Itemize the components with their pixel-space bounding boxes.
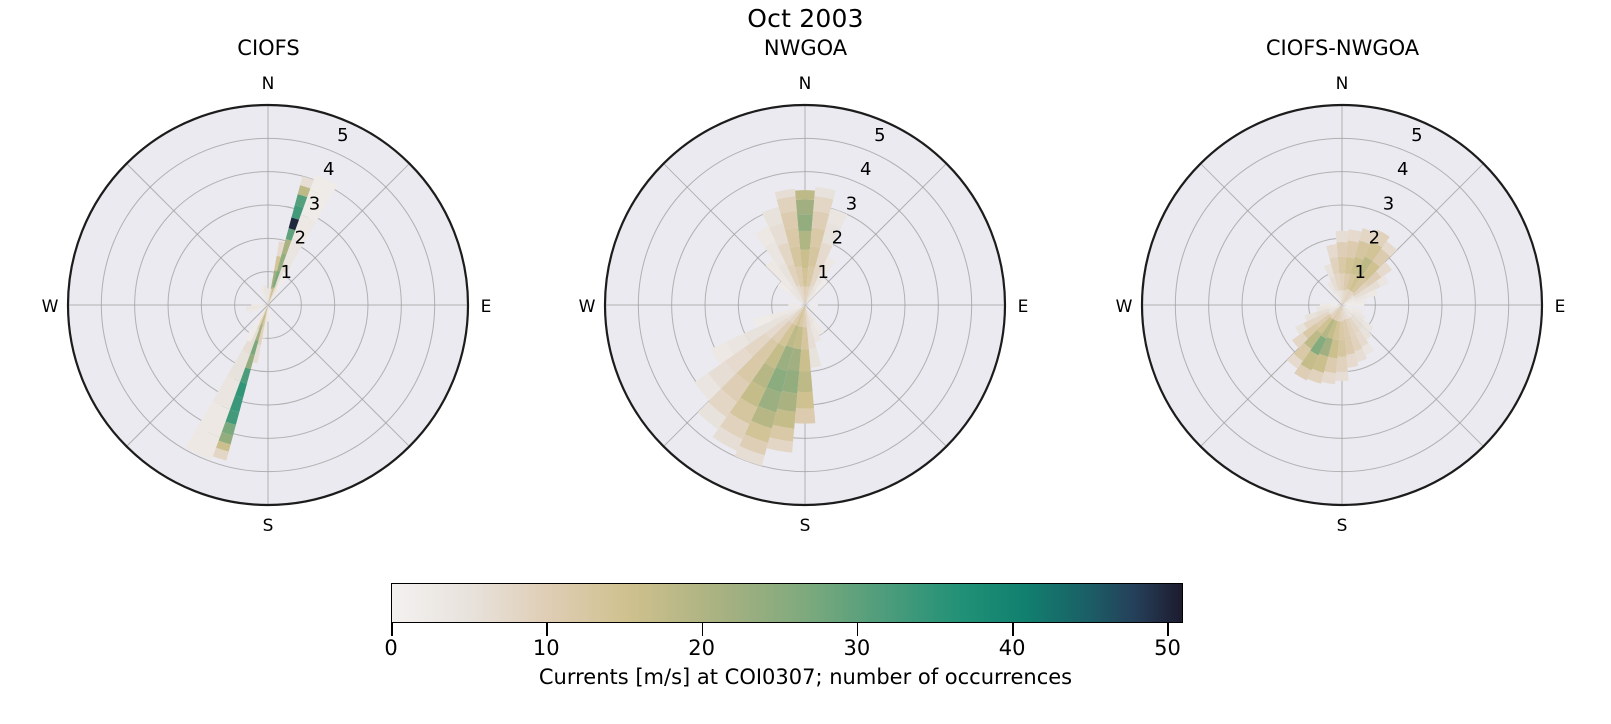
colorbar-gradient	[391, 583, 1183, 623]
compass-label-e: E	[1555, 297, 1566, 317]
colorbar-tick	[702, 623, 704, 636]
colorbar-tick-labels: 01020304050	[391, 636, 1183, 664]
rose-sector-segment	[797, 371, 812, 392]
rose-sector-segment	[795, 408, 816, 423]
panel-title-ciofs: CIOFS	[0, 36, 537, 60]
rose-sector-segment	[796, 199, 814, 214]
compass-label-e: E	[1018, 297, 1029, 317]
rose-sector-segment	[799, 231, 812, 250]
radial-tick-label: 5	[1411, 125, 1422, 146]
compass-label-s: S	[800, 516, 811, 536]
compass-label-w: W	[579, 297, 596, 317]
rose-sector-segment	[797, 214, 813, 231]
polar-panel-ciofs: CIOFS NESW12345	[0, 0, 537, 590]
colorbar-tick-label: 10	[533, 636, 560, 660]
colorbar-tick-label: 30	[844, 636, 871, 660]
polar-axes-ciofs-nwgoa: NESW12345	[1074, 60, 1611, 580]
colorbar-tick-label: 50	[1154, 636, 1181, 660]
radial-tick-label: 2	[832, 228, 843, 249]
rose-sector-segment	[796, 392, 814, 409]
colorbar-tick	[546, 623, 548, 636]
radial-tick-label: 1	[1354, 262, 1365, 283]
colorbar-tick-label: 20	[688, 636, 715, 660]
radial-tick-label: 2	[295, 228, 306, 249]
rose-sector-segment	[1335, 371, 1348, 381]
colorbar-tick	[857, 623, 859, 636]
radial-tick-label: 2	[1369, 228, 1380, 249]
compass-label-n: N	[799, 74, 812, 94]
radial-tick-label: 3	[846, 193, 857, 214]
radial-tick-label: 5	[874, 125, 885, 146]
colorbar-caption: Currents [m/s] at COI0307; number of occ…	[0, 665, 1611, 689]
rose-sector-segment	[1336, 357, 1348, 372]
radial-tick-label: 4	[1397, 159, 1408, 180]
colorbar-tick	[1167, 623, 1169, 636]
compass-label-e: E	[481, 297, 492, 317]
panel-title-nwgoa: NWGOA	[537, 36, 1074, 60]
compass-label-w: W	[1116, 297, 1133, 317]
polar-axes-ciofs: NESW12345	[0, 60, 537, 580]
compass-label-s: S	[1337, 516, 1348, 536]
radial-tick-label: 5	[337, 125, 348, 146]
colorbar	[391, 583, 1183, 623]
radial-tick-label: 3	[309, 193, 320, 214]
compass-label-n: N	[1336, 74, 1349, 94]
wind-rose-ciofs: NESW12345	[0, 60, 537, 580]
rose-sector-segment	[1337, 340, 1346, 357]
radial-tick-label: 1	[280, 262, 291, 283]
wind-rose-ciofs-nwgoa: NESW12345	[1074, 60, 1611, 580]
compass-label-s: S	[263, 516, 274, 536]
polar-axes-nwgoa: NESW12345	[537, 60, 1074, 580]
rose-sector-segment	[1336, 231, 1349, 242]
rose-sector-segment	[800, 249, 810, 268]
polar-panel-ciofs-nwgoa: CIOFS-NWGOA NESW12345	[1074, 0, 1611, 590]
colorbar-ticks	[391, 623, 1183, 637]
wind-rose-nwgoa: NESW12345	[537, 60, 1074, 580]
radial-tick-label: 3	[1383, 193, 1394, 214]
radial-tick-label: 4	[323, 159, 334, 180]
panel-title-ciofs-nwgoa: CIOFS-NWGOA	[1074, 36, 1611, 60]
colorbar-tick-label: 40	[999, 636, 1026, 660]
rose-sector-segment	[795, 190, 815, 200]
rose-sector-segment	[799, 349, 811, 371]
compass-label-n: N	[262, 74, 275, 94]
compass-label-w: W	[42, 297, 59, 317]
rose-sector-segment	[1338, 257, 1346, 274]
polar-panel-nwgoa: NWGOA NESW12345	[537, 0, 1074, 590]
radial-tick-label: 4	[860, 159, 871, 180]
rose-sector-segment	[1337, 242, 1348, 257]
colorbar-tick-label: 0	[384, 636, 397, 660]
colorbar-tick	[1012, 623, 1014, 636]
colorbar-tick	[391, 623, 393, 636]
radial-tick-label: 1	[817, 262, 828, 283]
